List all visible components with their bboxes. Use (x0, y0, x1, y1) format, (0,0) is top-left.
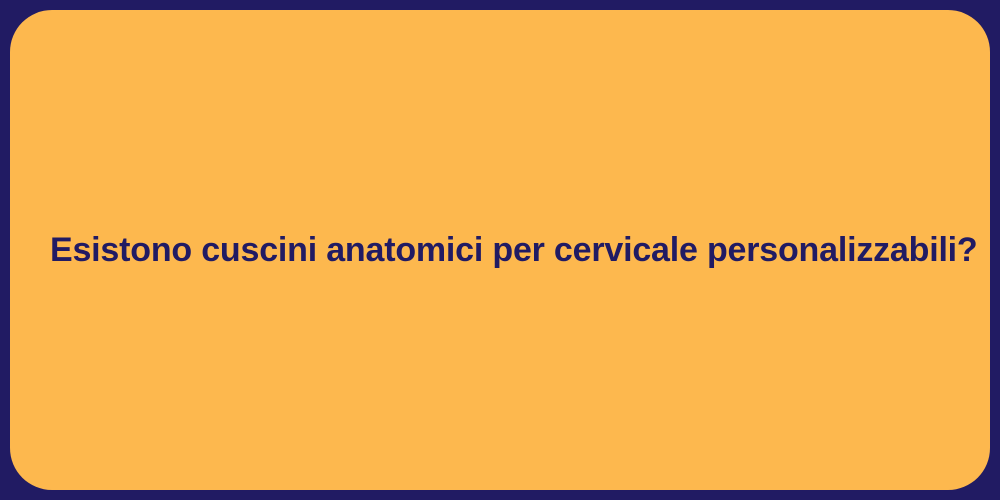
headline-question: Esistono cuscini anatomici per cervicale… (10, 228, 990, 272)
card-panel: Esistono cuscini anatomici per cervicale… (10, 10, 990, 490)
banner-root: Esistono cuscini anatomici per cervicale… (0, 0, 1000, 500)
